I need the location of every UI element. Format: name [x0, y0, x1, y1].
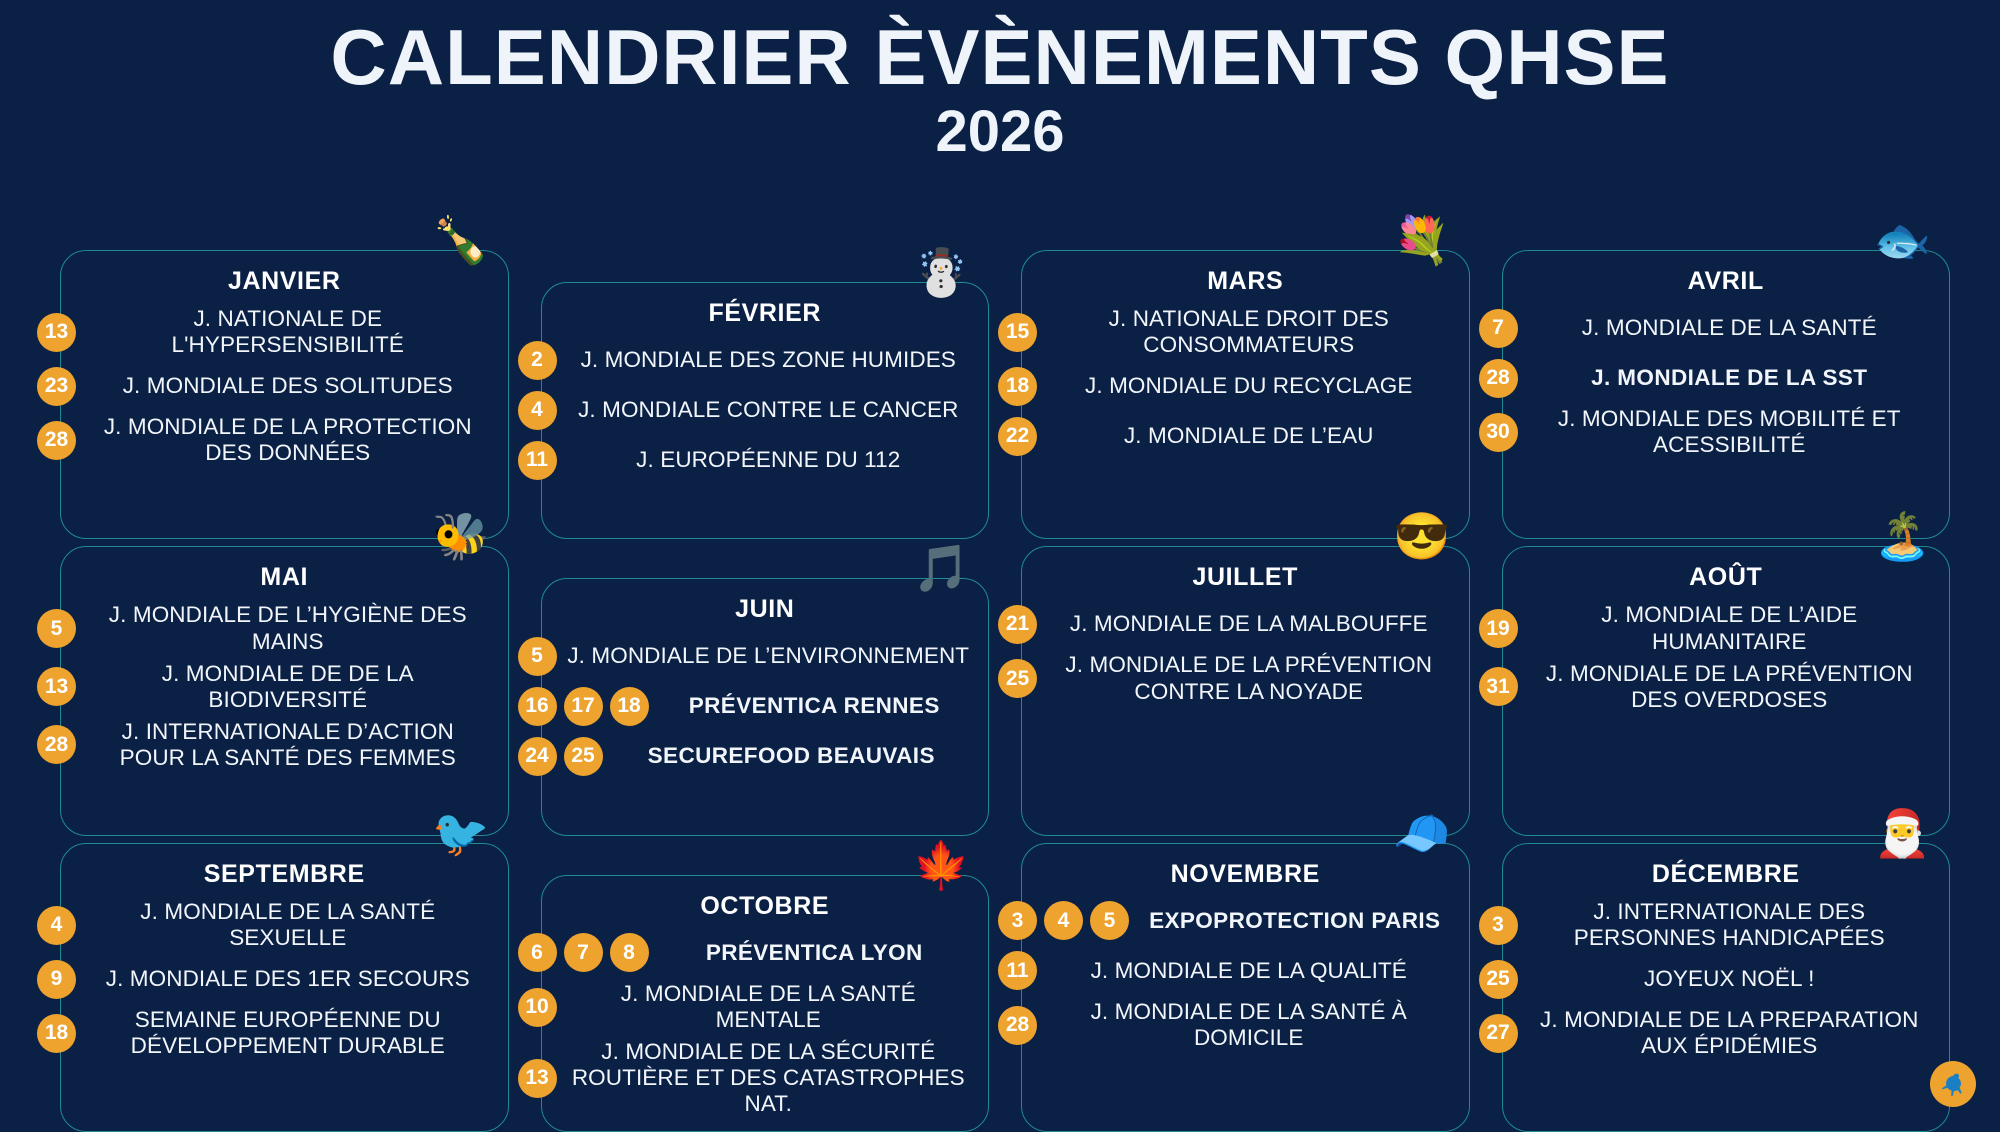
event-row: 11J. MONDIALE DE LA QUALITÉ — [1036, 949, 1455, 993]
month-card: 😎JUILLET21J. MONDIALE DE LA MALBOUFFE25J… — [1021, 546, 1470, 835]
event-row: 13J. MONDIALE DE LA SÉCURITÉ ROUTIÈRE ET… — [556, 1039, 975, 1117]
maple-leaf-icon: 🍁 — [913, 842, 970, 888]
month-card: 🍁OCTOBRE678PRÉVENTICA LYON10J. MONDIALE … — [541, 875, 990, 1132]
event-row: 25JOYEUX NOËL ! — [1517, 957, 1936, 1001]
event-label: EXPOPROTECTION PARIS — [1139, 908, 1455, 934]
day-badge: 6 — [518, 933, 557, 972]
day-badges: 23 — [37, 367, 76, 406]
event-label: J. MONDIALE DE LA PRÉVENTION DES OVERDOS… — [1528, 661, 1936, 713]
day-badges: 13 — [37, 313, 76, 352]
day-badge: 4 — [518, 391, 557, 430]
month-name: OCTOBRE — [556, 892, 975, 921]
event-label: J. MONDIALE DE LA SÉCURITÉ ROUTIÈRE ET D… — [567, 1039, 975, 1117]
event-label: J. MONDIALE DE L’ENVIRONNEMENT — [567, 643, 975, 669]
event-row: 11J. EUROPÉENNE DU 112 — [556, 438, 975, 482]
day-badge: 24 — [518, 737, 557, 776]
event-label: J. MONDIALE DE L’AIDE HUMANITAIRE — [1528, 602, 1936, 654]
day-badge: 21 — [998, 605, 1037, 644]
month-card: 🧢NOVEMBRE345EXPOPROTECTION PARIS11J. MON… — [1021, 843, 1470, 1132]
day-badges: 10 — [518, 988, 557, 1027]
event-label: J. MONDIALE DES MOBILITÉ ET ACESSIBILITÉ — [1528, 406, 1936, 458]
page-year: 2026 — [0, 102, 2000, 163]
day-badge: 13 — [37, 667, 76, 706]
event-list: 2J. MONDIALE DES ZONE HUMIDES4J. MONDIAL… — [556, 338, 975, 482]
event-row: 22J. MONDIALE DE L’EAU — [1036, 414, 1455, 458]
event-row: 31J. MONDIALE DE LA PRÉVENTION DES OVERD… — [1517, 661, 1936, 713]
event-list: 7J. MONDIALE DE LA SANTÉ28J. MONDIALE DE… — [1517, 306, 1936, 458]
day-badges: 3 — [1479, 906, 1518, 945]
event-row: 19J. MONDIALE DE L’AIDE HUMANITAIRE — [1517, 602, 1936, 654]
day-badge: 4 — [1044, 901, 1083, 940]
event-row: 28J. MONDIALE DE LA SST — [1517, 356, 1936, 400]
event-list: 3J. INTERNATIONALE DES PERSONNES HANDICA… — [1517, 899, 1936, 1059]
day-badge: 28 — [998, 1006, 1037, 1045]
day-badges: 13 — [518, 1059, 557, 1098]
month-name: MARS — [1036, 267, 1455, 296]
day-badge: 18 — [610, 687, 649, 726]
event-label: J. INTERNATIONALE D’ACTION POUR LA SANTÉ… — [86, 719, 494, 771]
event-row: 25J. MONDIALE DE LA PRÉVENTION CONTRE LA… — [1036, 652, 1455, 704]
event-row: 345EXPOPROTECTION PARIS — [1036, 899, 1455, 943]
day-badge: 13 — [518, 1059, 557, 1098]
event-row: 4J. MONDIALE CONTRE LE CANCER — [556, 388, 975, 432]
month-name: SEPTEMBRE — [75, 860, 494, 889]
day-badge: 13 — [37, 313, 76, 352]
event-list: 5J. MONDIALE DE L’ENVIRONNEMENT161718PRÉ… — [556, 634, 975, 778]
event-label: J. MONDIALE CONTRE LE CANCER — [567, 397, 975, 423]
day-badge: 28 — [1479, 359, 1518, 398]
day-badges: 27 — [1479, 1014, 1518, 1053]
day-badges: 161718 — [518, 687, 649, 726]
bee-icon: 🐝 — [432, 513, 489, 559]
day-badge: 5 — [518, 637, 557, 676]
day-badge: 3 — [998, 901, 1037, 940]
page-title: CALENDRIER ÈVÈNEMENTS QHSE — [0, 18, 2000, 98]
island-palm-icon: 🏝️ — [1874, 513, 1931, 559]
month-card: 🐝MAI5J. MONDIALE DE L’HYGIÈNE DES MAINS1… — [60, 546, 509, 835]
month-card: 🐟AVRIL7J. MONDIALE DE LA SANTÉ28J. MONDI… — [1502, 250, 1951, 539]
month-grid: 🍾JANVIER13J. NATIONALE DE L'HYPERSENSIBI… — [60, 268, 1950, 1132]
month-name: DÉCEMBRE — [1517, 860, 1936, 889]
event-list: 21J. MONDIALE DE LA MALBOUFFE25J. MONDIA… — [1036, 602, 1455, 704]
event-label: J. MONDIALE DE LA SANTÉ MENTALE — [567, 981, 975, 1033]
day-badge: 4 — [37, 906, 76, 945]
title-block: CALENDRIER ÈVÈNEMENTS QHSE 2026 — [0, 0, 2000, 162]
month-card: 🎅DÉCEMBRE3J. INTERNATIONALE DES PERSONNE… — [1502, 843, 1951, 1132]
event-row: 28J. MONDIALE DE LA SANTÉ À DOMICILE — [1036, 999, 1455, 1051]
day-badge: 19 — [1479, 609, 1518, 648]
month-card: 🐦SEPTEMBRE4J. MONDIALE DE LA SANTÉ SEXUE… — [60, 843, 509, 1132]
event-label: J. MONDIALE DES SOLITUDES — [86, 373, 494, 399]
day-badge: 18 — [998, 367, 1037, 406]
event-list: 4J. MONDIALE DE LA SANTÉ SEXUELLE9J. MON… — [75, 899, 494, 1059]
event-row: 5J. MONDIALE DE L’HYGIÈNE DES MAINS — [75, 602, 494, 654]
month-card: 🎵JUIN5J. MONDIALE DE L’ENVIRONNEMENT1617… — [541, 578, 990, 835]
event-row: 678PRÉVENTICA LYON — [556, 931, 975, 975]
day-badge: 9 — [37, 960, 76, 999]
day-badge: 25 — [1479, 960, 1518, 999]
day-badge: 7 — [564, 933, 603, 972]
event-label: J. MONDIALE DU RECYCLAGE — [1047, 373, 1455, 399]
day-badge: 31 — [1479, 667, 1518, 706]
flowers-icon: 💐 — [1393, 217, 1450, 263]
event-label: J. MONDIALE DE L’HYGIÈNE DES MAINS — [86, 602, 494, 654]
event-list: 19J. MONDIALE DE L’AIDE HUMANITAIRE31J. … — [1517, 602, 1936, 712]
bird-icon: 🐦 — [432, 810, 489, 856]
event-list: 678PRÉVENTICA LYON10J. MONDIALE DE LA SA… — [556, 931, 975, 1117]
day-badge: 28 — [37, 421, 76, 460]
day-badge: 5 — [1090, 901, 1129, 940]
day-badge: 25 — [998, 659, 1037, 698]
event-row: 9J. MONDIALE DES 1ER SECOURS — [75, 957, 494, 1001]
event-row: 23J. MONDIALE DES SOLITUDES — [75, 364, 494, 408]
day-badge: 3 — [1479, 906, 1518, 945]
day-badge: 17 — [564, 687, 603, 726]
day-badge: 5 — [37, 609, 76, 648]
event-label: J. MONDIALE DE LA SST — [1528, 365, 1936, 391]
event-label: J. MONDIALE DES 1ER SECOURS — [86, 966, 494, 992]
month-name: AOÛT — [1517, 563, 1936, 592]
day-badge: 10 — [518, 988, 557, 1027]
event-row: 10J. MONDIALE DE LA SANTÉ MENTALE — [556, 981, 975, 1033]
day-badge: 8 — [610, 933, 649, 972]
day-badges: 25 — [998, 659, 1037, 698]
day-badge: 2 — [518, 341, 557, 380]
day-badges: 4 — [518, 391, 557, 430]
event-label: PRÉVENTICA LYON — [659, 940, 975, 966]
day-badge: 22 — [998, 417, 1037, 456]
day-badge: 28 — [37, 725, 76, 764]
month-name: MAI — [75, 563, 494, 592]
day-badge: 18 — [37, 1014, 76, 1053]
santa-claus-icon: 🎅 — [1874, 810, 1931, 856]
day-badges: 31 — [1479, 667, 1518, 706]
event-label: J. EUROPÉENNE DU 112 — [567, 447, 975, 473]
day-badges: 22 — [998, 417, 1037, 456]
day-badges: 5 — [37, 609, 76, 648]
event-list: 15J. NATIONALE DROIT DES CONSOMMATEURS18… — [1036, 306, 1455, 458]
event-label: PRÉVENTICA RENNES — [659, 693, 975, 719]
day-badges: 11 — [998, 951, 1037, 990]
event-row: 28J. INTERNATIONALE D’ACTION POUR LA SAN… — [75, 719, 494, 771]
day-badges: 15 — [998, 313, 1037, 352]
month-name: JANVIER — [75, 267, 494, 296]
day-badges: 5 — [518, 637, 557, 676]
day-badges: 18 — [37, 1014, 76, 1053]
month-name: JUIN — [556, 595, 975, 624]
month-name: AVRIL — [1517, 267, 1936, 296]
day-badges: 345 — [998, 901, 1129, 940]
day-badge: 27 — [1479, 1014, 1518, 1053]
event-label: SEMAINE EUROPÉENNE DU DÉVELOPPEMENT DURA… — [86, 1007, 494, 1059]
event-row: 13J. NATIONALE DE L'HYPERSENSIBILITÉ — [75, 306, 494, 358]
month-name: JUILLET — [1036, 563, 1455, 592]
day-badges: 11 — [518, 441, 557, 480]
kangaroo-logo — [1930, 1061, 1976, 1107]
day-badges: 7 — [1479, 309, 1518, 348]
event-label: J. MONDIALE DES ZONE HUMIDES — [567, 347, 975, 373]
event-row: 5J. MONDIALE DE L’ENVIRONNEMENT — [556, 634, 975, 678]
month-card: 🍾JANVIER13J. NATIONALE DE L'HYPERSENSIBI… — [60, 250, 509, 539]
day-badges: 2 — [518, 341, 557, 380]
day-badge: 23 — [37, 367, 76, 406]
day-badges: 13 — [37, 667, 76, 706]
day-badge: 16 — [518, 687, 557, 726]
fish-icon: 🐟 — [1874, 217, 1931, 263]
event-label: J. MONDIALE DE DE LA BIODIVERSITÉ — [86, 661, 494, 713]
event-label: JOYEUX NOËL ! — [1528, 966, 1936, 992]
event-label: J. MONDIALE DE LA SANTÉ — [1528, 315, 1936, 341]
day-badges: 30 — [1479, 413, 1518, 452]
winter-hat-icon: 🧢 — [1393, 810, 1450, 856]
month-name: NOVEMBRE — [1036, 860, 1455, 889]
day-badge: 11 — [518, 441, 557, 480]
day-badge: 7 — [1479, 309, 1518, 348]
day-badges: 18 — [998, 367, 1037, 406]
day-badges: 19 — [1479, 609, 1518, 648]
day-badges: 21 — [998, 605, 1037, 644]
event-label: J. MONDIALE DE LA QUALITÉ — [1047, 958, 1455, 984]
day-badges: 25 — [1479, 960, 1518, 999]
day-badges: 678 — [518, 933, 649, 972]
event-label: J. MONDIALE DE LA MALBOUFFE — [1047, 611, 1455, 637]
event-label: J. NATIONALE DE L'HYPERSENSIBILITÉ — [86, 306, 494, 358]
month-name: FÉVRIER — [556, 299, 975, 328]
event-label: J. MONDIALE DE LA SANTÉ SEXUELLE — [86, 899, 494, 951]
event-label: J. NATIONALE DROIT DES CONSOMMATEURS — [1047, 306, 1455, 358]
day-badges: 28 — [1479, 359, 1518, 398]
snowman-icon: ☃️ — [913, 249, 970, 295]
music-note-icon: 🎵 — [913, 545, 970, 591]
event-row: 4J. MONDIALE DE LA SANTÉ SEXUELLE — [75, 899, 494, 951]
event-row: 21J. MONDIALE DE LA MALBOUFFE — [1036, 602, 1455, 646]
day-badges: 4 — [37, 906, 76, 945]
event-row: 27J. MONDIALE DE LA PREPARATION AUX ÉPID… — [1517, 1007, 1936, 1059]
day-badge: 11 — [998, 951, 1037, 990]
event-row: 15J. NATIONALE DROIT DES CONSOMMATEURS — [1036, 306, 1455, 358]
day-badge: 30 — [1479, 413, 1518, 452]
month-card: 🏝️AOÛT19J. MONDIALE DE L’AIDE HUMANITAIR… — [1502, 546, 1951, 835]
event-label: J. MONDIALE DE LA PREPARATION AUX ÉPIDÉM… — [1528, 1007, 1936, 1059]
event-row: 2J. MONDIALE DES ZONE HUMIDES — [556, 338, 975, 382]
day-badge: 25 — [564, 737, 603, 776]
event-row: 7J. MONDIALE DE LA SANTÉ — [1517, 306, 1936, 350]
event-row: 28J. MONDIALE DE LA PROTECTION DES DONNÉ… — [75, 414, 494, 466]
sun-sunglasses-icon: 😎 — [1393, 513, 1450, 559]
event-list: 345EXPOPROTECTION PARIS11J. MONDIALE DE … — [1036, 899, 1455, 1051]
day-badges: 28 — [37, 421, 76, 460]
day-badges: 28 — [998, 1006, 1037, 1045]
event-label: J. MONDIALE DE LA SANTÉ À DOMICILE — [1047, 999, 1455, 1051]
event-row: 18SEMAINE EUROPÉENNE DU DÉVELOPPEMENT DU… — [75, 1007, 494, 1059]
event-list: 5J. MONDIALE DE L’HYGIÈNE DES MAINS13J. … — [75, 602, 494, 771]
event-label: J. MONDIALE DE L’EAU — [1047, 423, 1455, 449]
event-label: J. MONDIALE DE LA PRÉVENTION CONTRE LA N… — [1047, 652, 1455, 704]
event-label: SECUREFOOD BEAUVAIS — [613, 743, 975, 769]
month-card: 💐MARS15J. NATIONALE DROIT DES CONSOMMATE… — [1021, 250, 1470, 539]
event-row: 30J. MONDIALE DES MOBILITÉ ET ACESSIBILI… — [1517, 406, 1936, 458]
event-row: 3J. INTERNATIONALE DES PERSONNES HANDICA… — [1517, 899, 1936, 951]
event-list: 13J. NATIONALE DE L'HYPERSENSIBILITÉ23J.… — [75, 306, 494, 466]
month-card: ☃️FÉVRIER2J. MONDIALE DES ZONE HUMIDES4J… — [541, 282, 990, 539]
champagne-bottle-icon: 🍾 — [432, 217, 489, 263]
event-row: 2425SECUREFOOD BEAUVAIS — [556, 734, 975, 778]
day-badge: 15 — [998, 313, 1037, 352]
day-badges: 2425 — [518, 737, 603, 776]
day-badges: 9 — [37, 960, 76, 999]
day-badges: 28 — [37, 725, 76, 764]
event-label: J. MONDIALE DE LA PROTECTION DES DONNÉES — [86, 414, 494, 466]
event-row: 18J. MONDIALE DU RECYCLAGE — [1036, 364, 1455, 408]
event-row: 13J. MONDIALE DE DE LA BIODIVERSITÉ — [75, 661, 494, 713]
event-label: J. INTERNATIONALE DES PERSONNES HANDICAP… — [1528, 899, 1936, 951]
event-row: 161718PRÉVENTICA RENNES — [556, 684, 975, 728]
